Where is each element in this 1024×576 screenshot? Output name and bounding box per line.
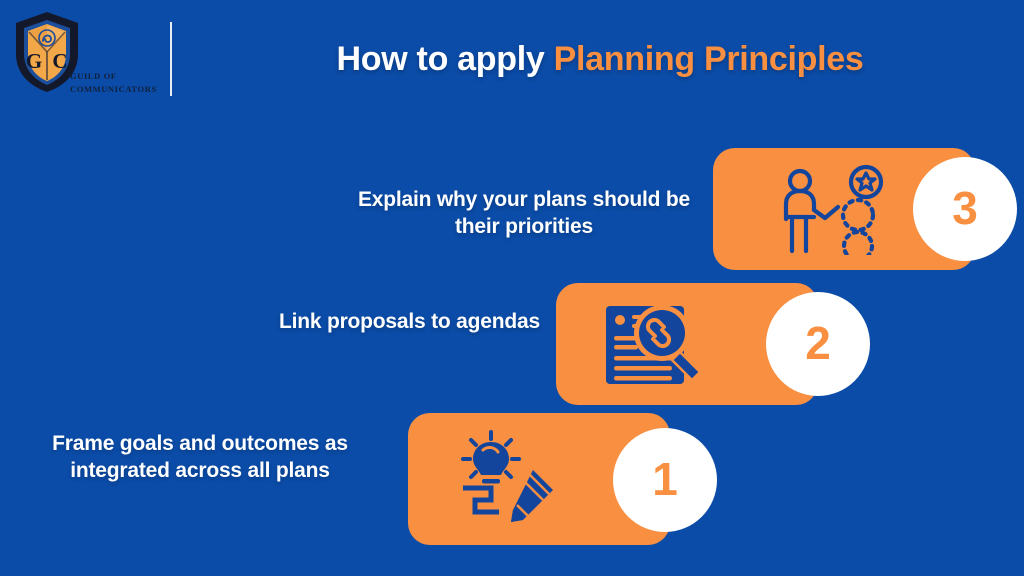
step-number-2: 2 — [805, 320, 831, 366]
lightbulb-pencil-path-icon — [455, 428, 567, 528]
step-label-3: Explain why your plans should be their p… — [350, 186, 698, 240]
document-link-magnifier-icon — [600, 298, 712, 390]
step-label-1: Frame goals and outcomes as integrated a… — [10, 430, 390, 484]
step-label-2: Link proposals to agendas — [250, 308, 540, 335]
presenter-with-goals-icon — [778, 163, 890, 255]
step-number-1: 1 — [652, 456, 678, 502]
steps-container: Explain why your plans should be their p… — [0, 0, 1024, 576]
step-number-3: 3 — [952, 185, 978, 231]
step-badge-1: 1 — [613, 428, 717, 532]
step-badge-3: 3 — [913, 157, 1017, 261]
step-badge-2: 2 — [766, 292, 870, 396]
